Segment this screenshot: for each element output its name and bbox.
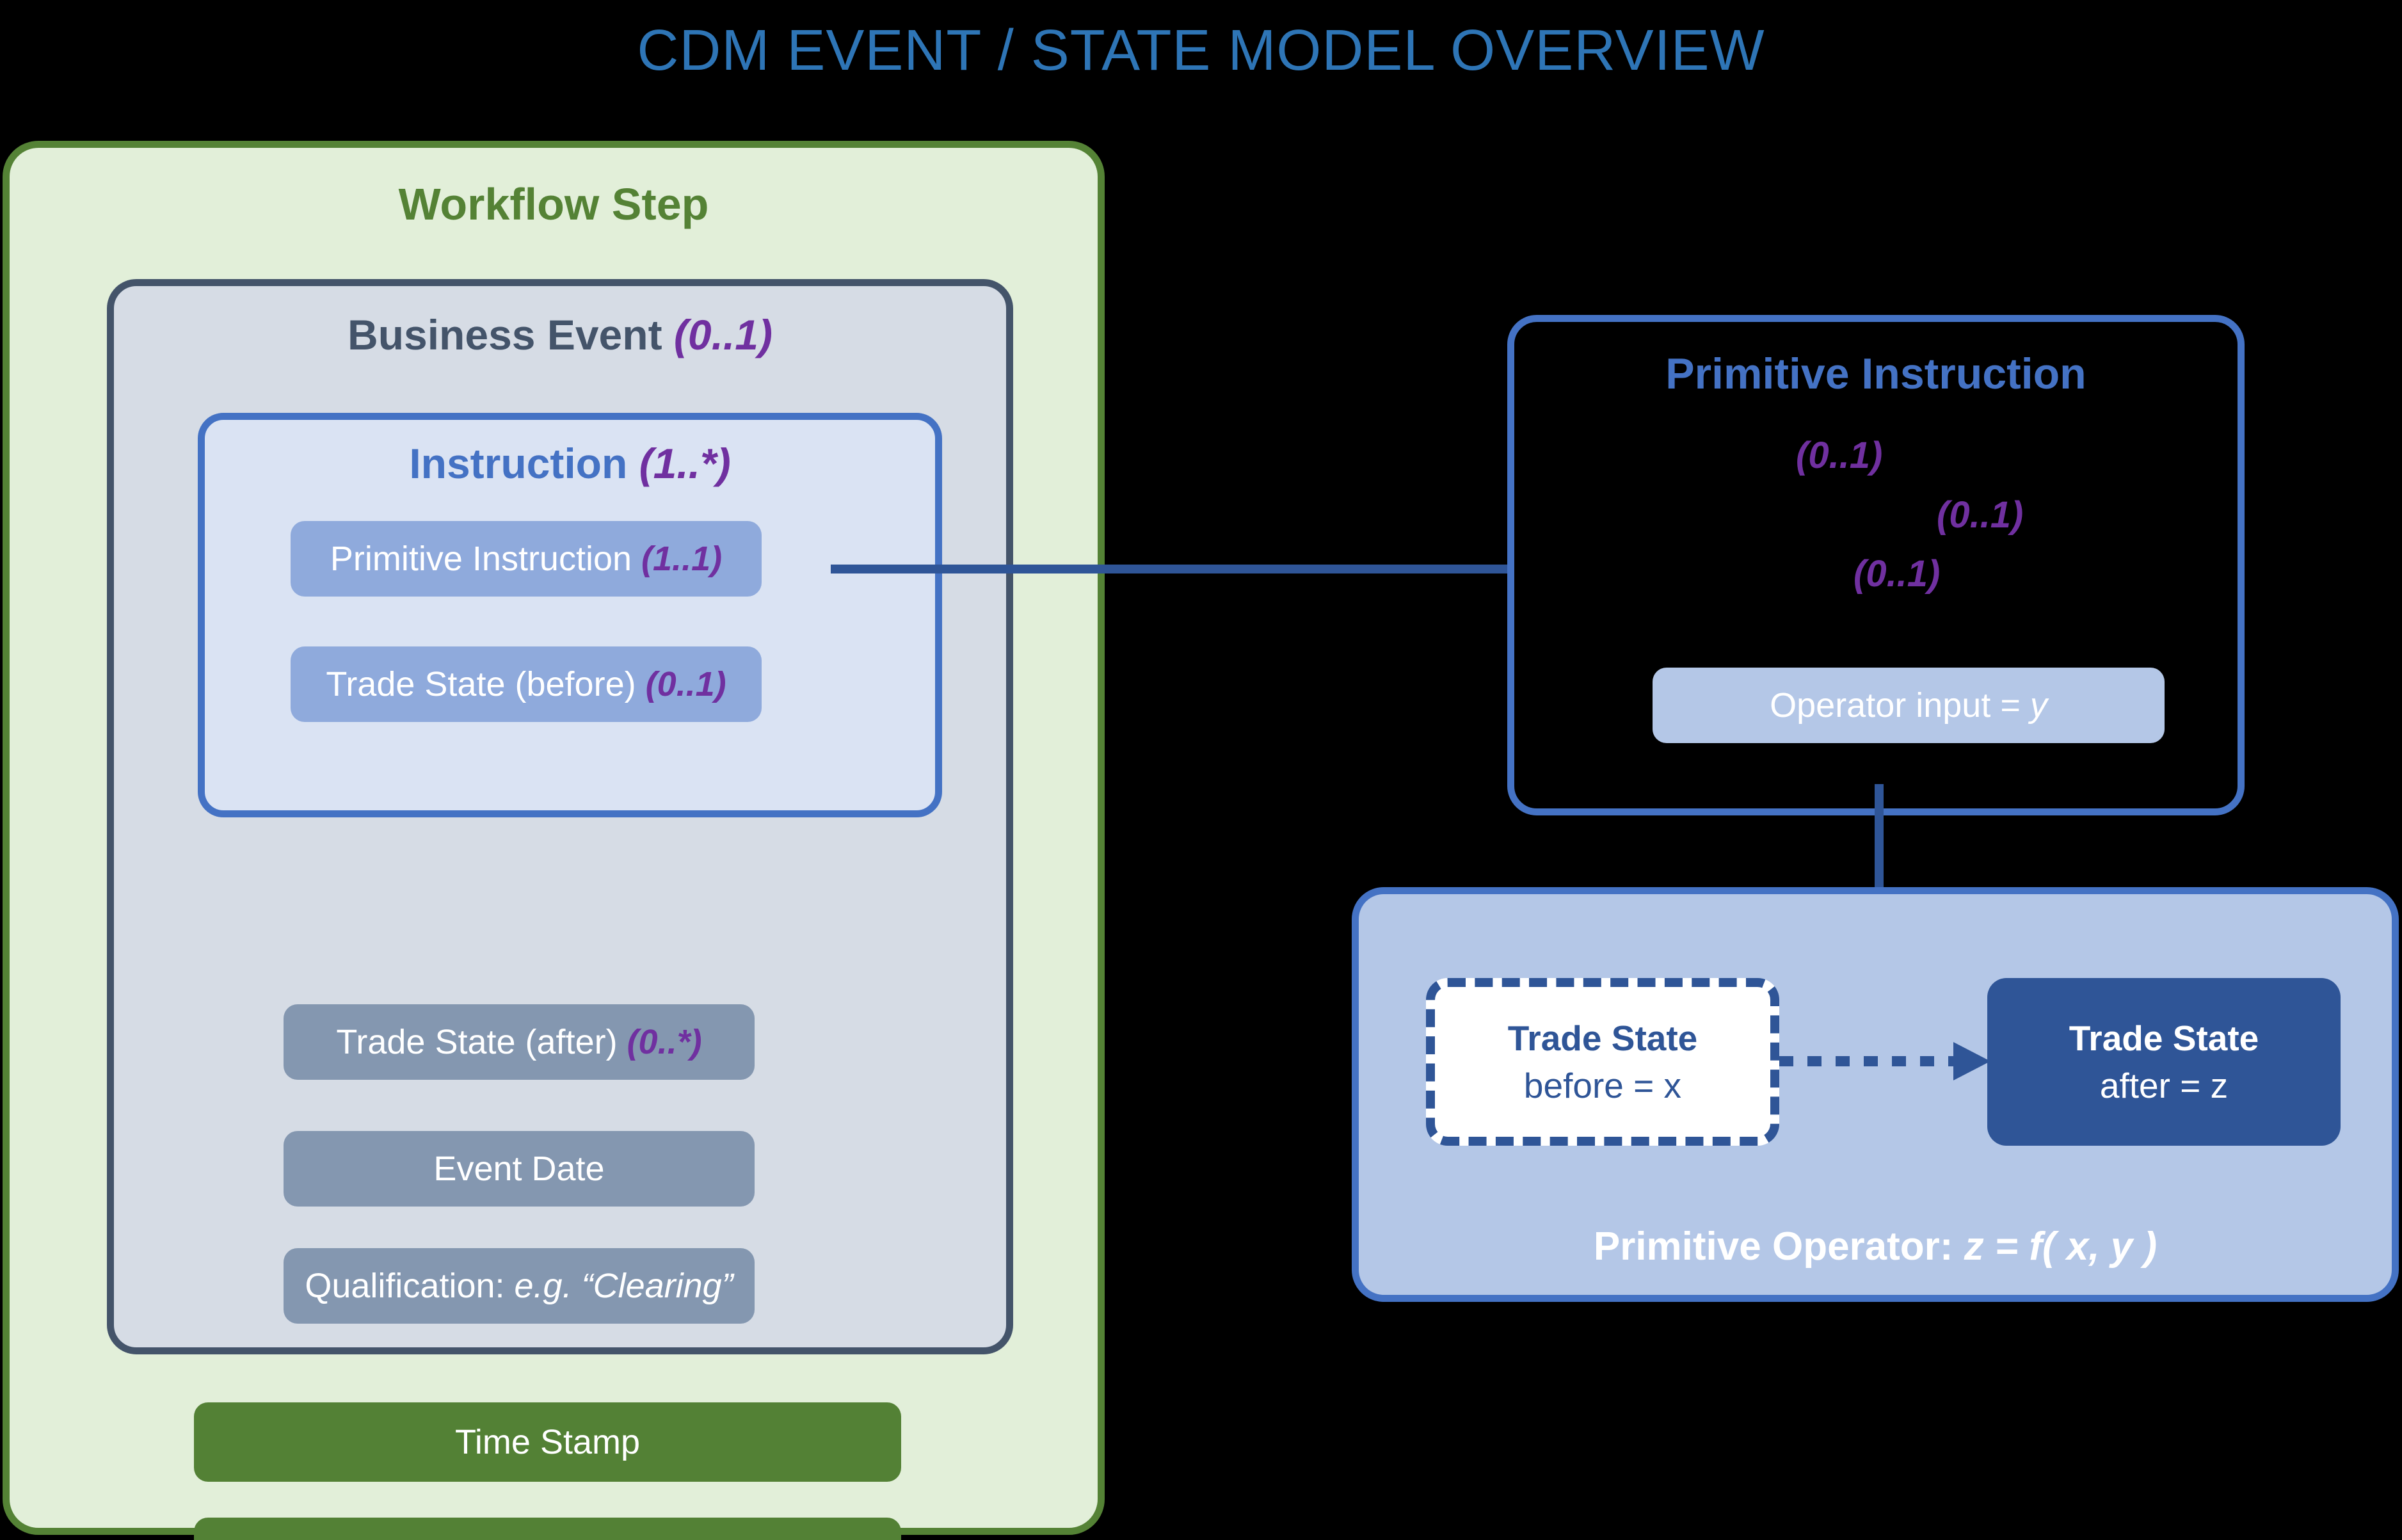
attribute-primitive-instruction[interactable]: Primitive Instruction (1..1): [291, 521, 762, 597]
dotted-line: [1779, 1056, 1957, 1066]
arrow-before-to-after: [1779, 1056, 1990, 1066]
attribute-label: Qualification: e.g. “Clearing”: [305, 1266, 733, 1306]
attribute-time-stamp[interactable]: Time Stamp: [194, 1402, 901, 1482]
attribute-qualification[interactable]: Qualification: e.g. “Clearing”: [284, 1248, 755, 1324]
arrow-head-icon: [1953, 1042, 1990, 1080]
primitive-instruction-cardinality-3: (0..1): [1854, 552, 1940, 595]
primitive-instruction-cardinality-2: (0..1): [1937, 493, 2023, 536]
attribute-event-date[interactable]: Event Date: [284, 1131, 755, 1207]
trade-state-before-value: before = x: [1524, 1062, 1681, 1109]
workflow-step-panel: Workflow Step Business Event (0..1) Inst…: [3, 141, 1105, 1535]
attribute-trade-state-before[interactable]: Trade State (before) (0..1): [291, 646, 762, 722]
trade-state-after-title: Trade State: [2069, 1015, 2259, 1062]
trade-state-after-box[interactable]: Trade State after = z: [1987, 978, 2341, 1146]
trade-state-before-title: Trade State: [1508, 1015, 1698, 1062]
workflow-step-title: Workflow Step: [10, 179, 1098, 230]
business-event-box: Business Event (0..1) Instruction (1..*)…: [107, 279, 1013, 1354]
attribute-operator-input[interactable]: Operator input = y: [1653, 668, 2165, 743]
attribute-label: Primitive Instruction (1..1): [330, 539, 722, 579]
primitive-instruction-box: Primitive Instruction (0..1) (0..1) (0..…: [1507, 315, 2245, 815]
attribute-label: Trade State (after) (0..*): [336, 1022, 701, 1062]
primitive-instruction-cardinality-1: (0..1): [1796, 434, 1882, 477]
diagram-canvas: CDM EVENT / STATE MODEL OVERVIEW Workflo…: [0, 0, 2402, 1540]
attribute-label: Trade State (before) (0..1): [326, 664, 726, 704]
instruction-title: Instruction (1..*): [205, 439, 935, 488]
trade-state-after-value: after = z: [2100, 1062, 2228, 1109]
business-event-label: Business Event: [348, 311, 662, 358]
instruction-box: Instruction (1..*) Primitive Instruction…: [198, 413, 942, 817]
business-event-cardinality: (0..1): [674, 311, 773, 358]
trade-state-before-box[interactable]: Trade State before = x: [1426, 978, 1779, 1146]
primitive-instruction-title: Primitive Instruction: [1514, 349, 2238, 399]
attribute-label: Event Date: [433, 1149, 604, 1189]
instruction-label: Instruction: [409, 440, 627, 487]
attribute-trade-state-after[interactable]: Trade State (after) (0..*): [284, 1004, 755, 1080]
attribute-label: Time Stamp: [455, 1422, 640, 1462]
page-title: CDM EVENT / STATE MODEL OVERVIEW: [0, 18, 2402, 84]
primitive-operator-label: Primitive Operator: z = f( x, y ): [1359, 1224, 2392, 1269]
attribute-workflow-status[interactable]: Workflow Status (Enum) Submitted / Accep…: [194, 1518, 901, 1540]
connector-instruction-to-primitive-instruction: [831, 565, 1514, 573]
instruction-cardinality: (1..*): [639, 440, 731, 487]
business-event-title: Business Event (0..1): [114, 310, 1006, 359]
attribute-label: Operator input = y: [1770, 686, 2047, 725]
